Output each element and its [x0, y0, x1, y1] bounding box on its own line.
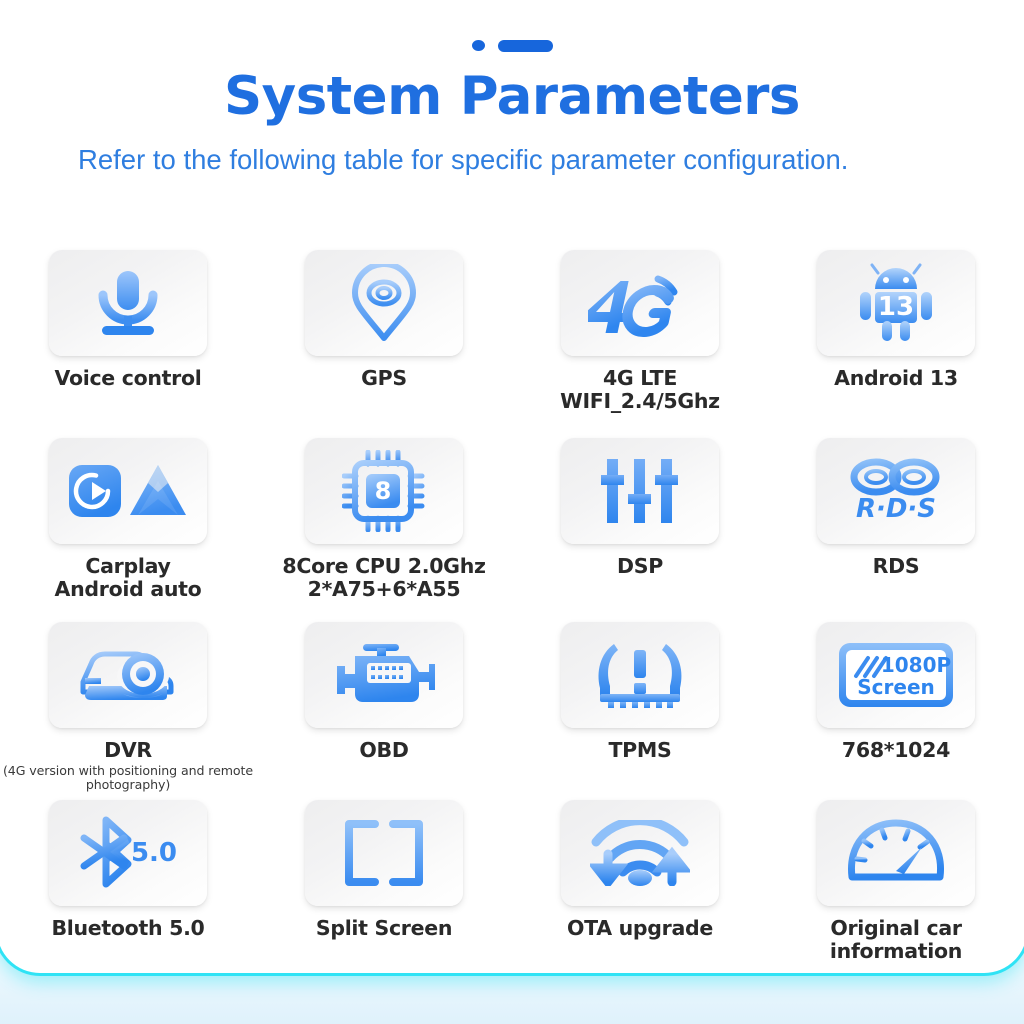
cpu-core-count-text: 8 — [375, 477, 392, 505]
speedometer-icon — [846, 819, 946, 887]
cpu-chip-icon: 8 — [342, 450, 426, 532]
feature-item-ota-upgrade[interactable]: OTA upgrade — [512, 800, 768, 970]
feature-label: Voice control — [55, 367, 202, 390]
screen-label-text: Screen — [857, 675, 935, 699]
feature-item-4g-lte[interactable]: 4G LTE WIFI_2.4/5Ghz — [512, 250, 768, 438]
feature-icon-tile — [305, 250, 463, 356]
feature-label-line1: RDS — [873, 554, 920, 578]
feature-item-carplay-androidauto[interactable]: Carplay Android auto — [0, 438, 256, 626]
feature-icon-tile — [49, 438, 207, 544]
feature-icon-tile — [561, 250, 719, 356]
feature-icon-tile — [817, 800, 975, 906]
page-content: System Parameters Refer to the following… — [0, 0, 1024, 1024]
engine-obd-icon — [333, 644, 435, 706]
feature-label-line1: 768*1024 — [842, 738, 950, 762]
feature-item-gps[interactable]: GPS — [256, 250, 512, 438]
feature-icon-tile: R·D·S — [817, 438, 975, 544]
feature-sublabel: (4G version with positioning and remote … — [0, 764, 256, 793]
header-decoration — [0, 0, 1024, 52]
feature-label-line1: Voice control — [55, 366, 202, 390]
feature-label: 8Core CPU 2.0Ghz 2*A75+6*A55 — [282, 555, 485, 601]
feature-item-split-screen[interactable]: Split Screen — [256, 800, 512, 970]
android-robot-icon: 13 — [858, 263, 934, 343]
android-version-text: 13 — [878, 292, 914, 322]
bluetooth-icon: 5.0 — [76, 816, 180, 890]
feature-label: 4G LTE WIFI_2.4/5Ghz — [560, 367, 720, 413]
page-root: System Parameters Refer to the following… — [0, 0, 1024, 1024]
decoration-dot — [472, 40, 485, 51]
feature-icon-tile — [561, 800, 719, 906]
equalizer-sliders-icon — [601, 457, 679, 525]
tire-pressure-icon — [594, 642, 686, 708]
feature-icon-tile: 13 — [817, 250, 975, 356]
feature-label-line1: GPS — [361, 366, 407, 390]
feature-label-line1: Android 13 — [834, 366, 958, 390]
feature-item-android-13[interactable]: 13 Android 13 — [768, 250, 1024, 438]
feature-icon-tile — [49, 250, 207, 356]
feature-item-voice-control[interactable]: Voice control — [0, 250, 256, 438]
feature-icon-tile — [305, 622, 463, 728]
feature-icon-tile — [305, 800, 463, 906]
feature-icon-tile — [561, 622, 719, 728]
feature-label: Android 13 — [834, 367, 958, 390]
feature-label: OBD — [359, 739, 408, 762]
feature-item-dvr[interactable]: DVR (4G version with positioning and rem… — [0, 622, 256, 810]
feature-item-cpu[interactable]: 8 8Core CPU 2.0Ghz 2*A75+6*A55 — [256, 438, 512, 626]
feature-label: DSP — [617, 555, 663, 578]
feature-item-tpms[interactable]: TPMS — [512, 622, 768, 810]
feature-label-line1: DVR — [104, 738, 152, 762]
dashcam-car-icon — [79, 642, 177, 708]
feature-label-line1: 4G LTE — [603, 366, 677, 390]
feature-label: 768*1024 — [842, 739, 950, 762]
split-screen-icon — [341, 818, 427, 888]
page-title: System Parameters — [0, 70, 1024, 123]
feature-label: OTA upgrade — [567, 917, 713, 940]
feature-label-line1: OBD — [359, 738, 408, 762]
feature-label-line1: 8Core CPU 2.0Ghz — [282, 554, 485, 578]
feature-label: Original car information — [830, 917, 962, 963]
screen-res-text: 1080P — [881, 653, 951, 677]
feature-item-obd[interactable]: OBD — [256, 622, 512, 810]
feature-item-bluetooth[interactable]: 5.0 Bluetooth 5.0 — [0, 800, 256, 970]
microphone-icon — [90, 266, 166, 340]
screen-1080p-icon: 1080P Screen — [838, 642, 954, 708]
feature-label-line2: WIFI_2.4/5Ghz — [560, 390, 720, 413]
feature-label-line1: Carplay — [85, 554, 170, 578]
feature-item-screen-resolution[interactable]: 1080P Screen 768*1024 — [768, 622, 1024, 810]
feature-label-line2: Android auto — [55, 578, 202, 601]
feature-label: TPMS — [609, 739, 672, 762]
feature-label-line1: Original car — [830, 916, 961, 940]
feature-grid: Voice control — [0, 250, 1024, 626]
feature-label: DVR (4G version with positioning and rem… — [0, 739, 256, 793]
feature-label: Split Screen — [316, 917, 452, 940]
feature-item-rds[interactable]: R·D·S RDS — [768, 438, 1024, 626]
map-pin-icon — [349, 264, 419, 342]
feature-item-dsp[interactable]: DSP — [512, 438, 768, 626]
rds-logo-icon: R·D·S — [844, 455, 948, 527]
page-subtitle: Refer to the following table for specifi… — [0, 142, 1024, 177]
wifi-ota-icon — [590, 820, 690, 886]
bluetooth-version-text: 5.0 — [131, 838, 177, 868]
feature-label-line1: OTA upgrade — [567, 916, 713, 940]
feature-icon-tile: 1080P Screen — [817, 622, 975, 728]
feature-icon-tile: 5.0 — [49, 800, 207, 906]
feature-icon-tile: 8 — [305, 438, 463, 544]
feature-label: Bluetooth 5.0 — [51, 917, 204, 940]
feature-grid-lower: DVR (4G version with positioning and rem… — [0, 622, 1024, 810]
feature-label-line1: Bluetooth 5.0 — [51, 916, 204, 940]
feature-label-line1: Split Screen — [316, 916, 452, 940]
decoration-bar — [498, 40, 553, 52]
feature-label-line2: 2*A75+6*A55 — [282, 578, 485, 601]
feature-grid-row4: 5.0 Bluetooth 5.0 — [0, 800, 1024, 970]
rds-logo-text: R·D·S — [856, 494, 936, 524]
feature-label: RDS — [873, 555, 920, 578]
feature-icon-tile — [49, 622, 207, 728]
4g-signal-icon — [588, 265, 692, 341]
feature-label: Carplay Android auto — [55, 555, 202, 601]
feature-label-line2: information — [830, 940, 962, 963]
feature-item-original-car-info[interactable]: Original car information — [768, 800, 1024, 970]
feature-label-line1: DSP — [617, 554, 663, 578]
carplay-androidauto-icon — [68, 459, 188, 523]
feature-icon-tile — [561, 438, 719, 544]
feature-label-line1: TPMS — [609, 738, 672, 762]
feature-label: GPS — [361, 367, 407, 390]
